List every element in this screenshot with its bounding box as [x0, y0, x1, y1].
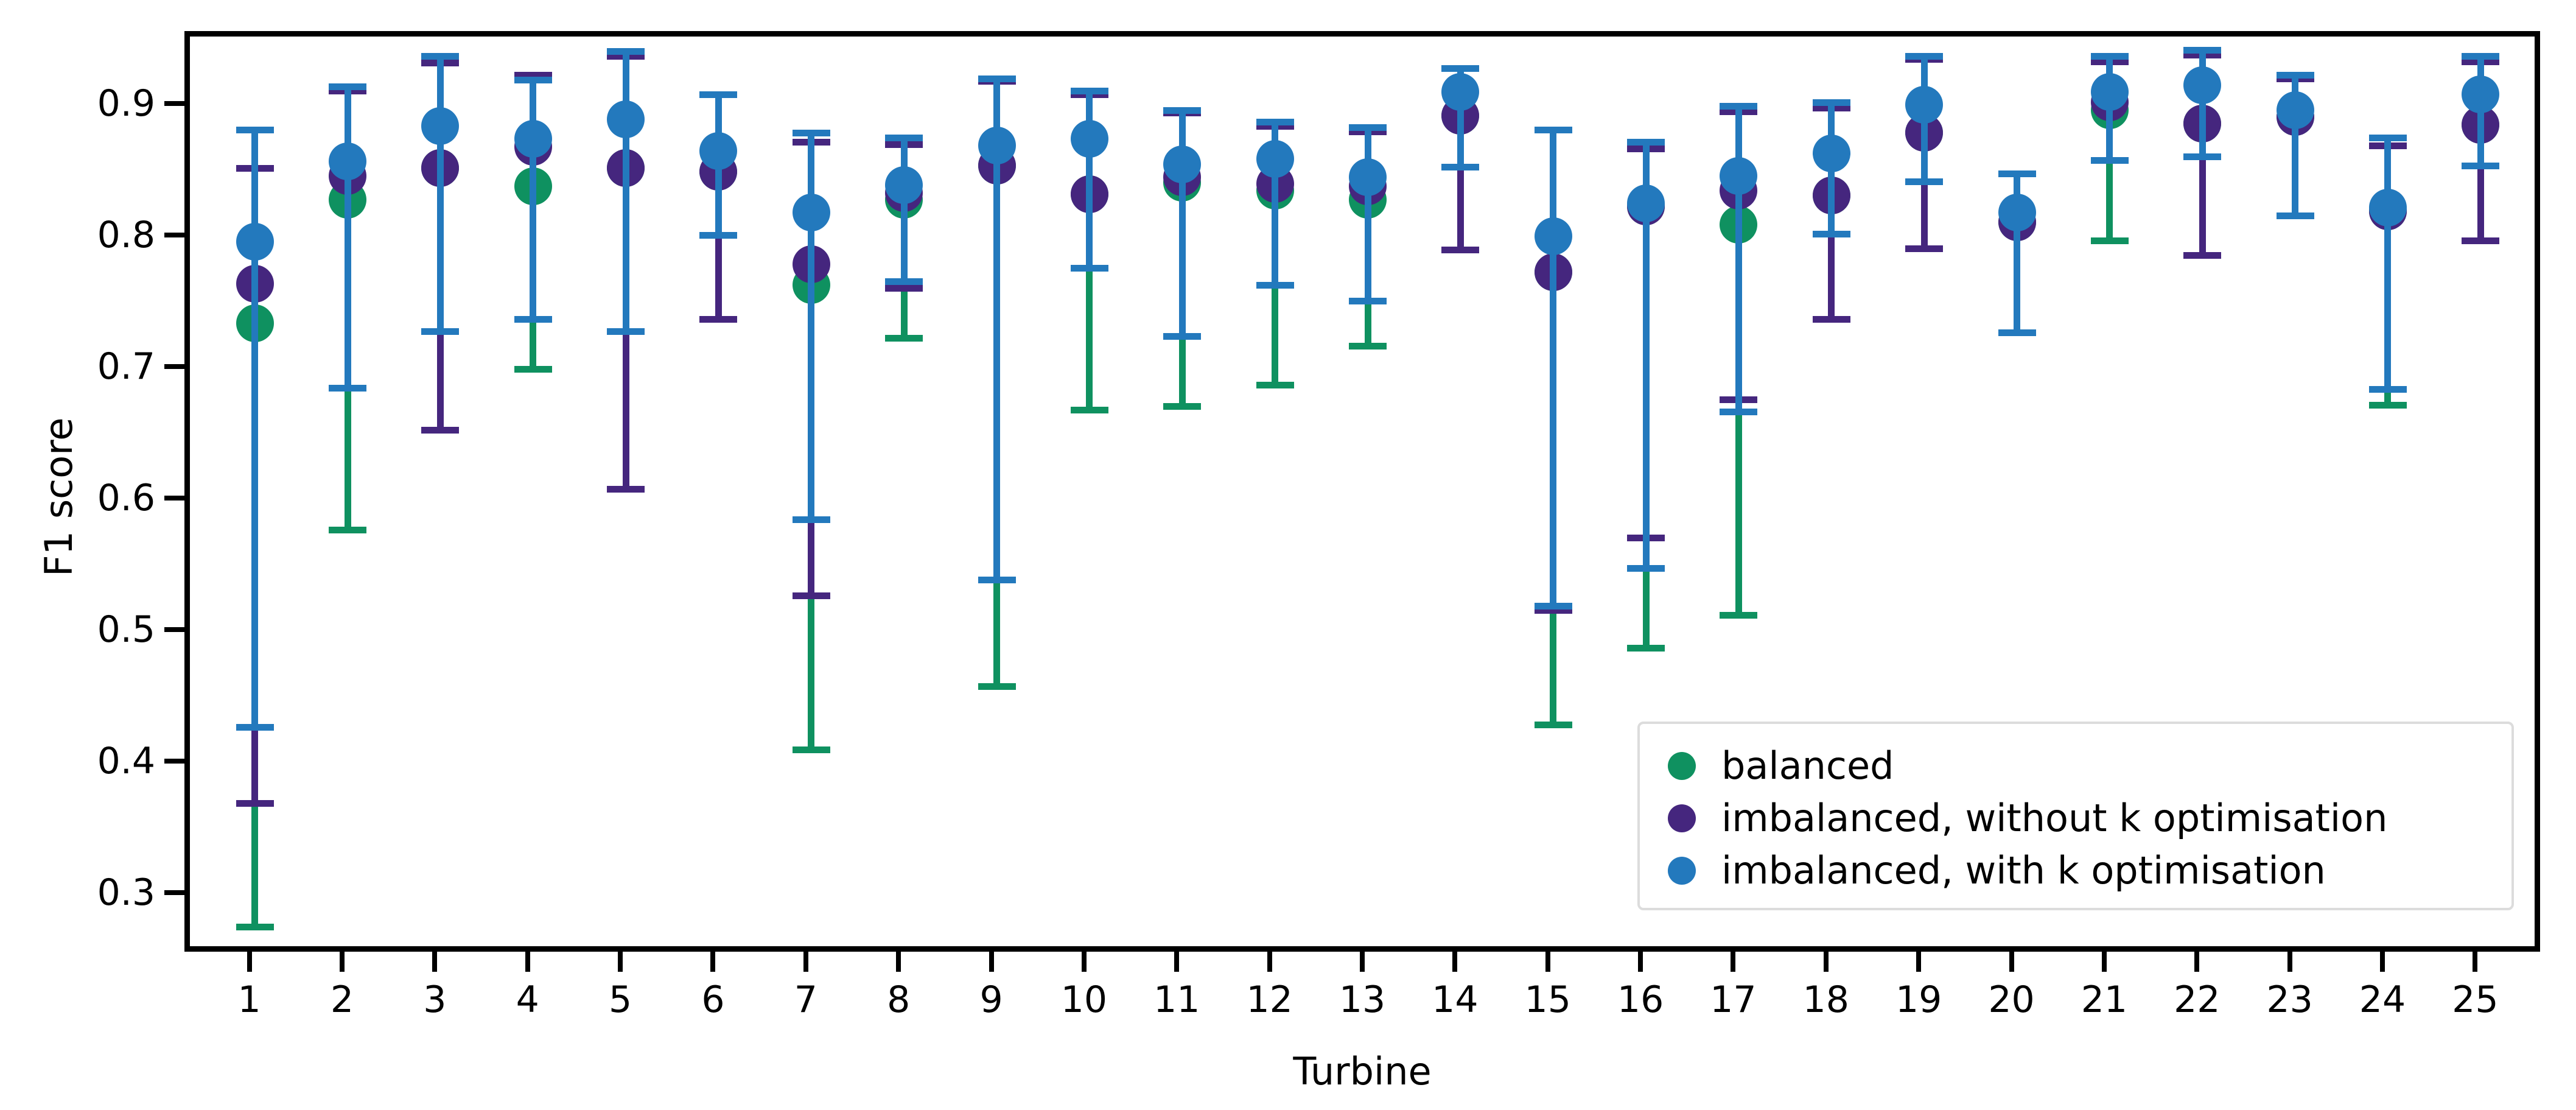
data-point-marker: [1720, 157, 1757, 195]
error-bar-cap: [2369, 386, 2407, 393]
error-bar-cap: [1349, 343, 1387, 350]
data-point-marker: [978, 127, 1016, 164]
x-tick-mark: [340, 952, 345, 972]
error-bar-cap: [2183, 47, 2221, 54]
data-point-marker: [1535, 217, 1572, 255]
legend-item[interactable]: imbalanced, without k optimisation: [1640, 792, 2511, 845]
data-point-marker: [1163, 146, 1201, 183]
y-axis-label: F1 score: [37, 418, 81, 577]
x-tick-mark: [2473, 952, 2477, 972]
data-point-marker: [2183, 66, 2221, 104]
x-tick-label: 14: [1432, 978, 1478, 1021]
data-point-marker: [514, 120, 552, 158]
x-tick-label: 20: [1988, 978, 2034, 1021]
error-bar-cap: [1071, 407, 1108, 413]
error-bar-cap: [1441, 164, 1479, 170]
error-bar-cap: [421, 53, 459, 60]
x-tick-mark: [2287, 952, 2292, 972]
x-tick-mark: [803, 952, 808, 972]
legend-item[interactable]: imbalanced, with k optimisation: [1640, 845, 2511, 897]
x-tick-mark: [618, 952, 623, 972]
error-bar-cap: [1535, 603, 1572, 609]
x-tick-label: 24: [2359, 978, 2406, 1021]
error-bar-cap: [329, 83, 366, 90]
error-bar-cap: [699, 316, 737, 323]
error-bar-cap: [1535, 127, 1572, 133]
error-bar-cap: [236, 724, 274, 731]
x-tick-label: 1: [238, 978, 261, 1021]
error-bar-cap: [607, 486, 645, 493]
y-tick-label: 0.8: [97, 217, 155, 253]
error-bar-cap: [2277, 72, 2314, 79]
error-bar-cap: [421, 427, 459, 434]
error-bar-cap: [1720, 103, 1757, 110]
x-tick-mark: [1267, 952, 1272, 972]
error-bar-cap: [1349, 124, 1387, 131]
x-tick-mark: [1731, 952, 1735, 972]
x-tick-label: 3: [423, 978, 446, 1021]
legend-marker-icon: [1668, 857, 1696, 885]
y-tick-label: 0.6: [97, 480, 155, 516]
error-bar-cap: [1256, 382, 1294, 388]
error-bar-cap: [1627, 565, 1665, 572]
error-bar-cap: [2091, 237, 2129, 244]
y-tick-mark: [164, 233, 184, 237]
x-tick-label: 21: [2081, 978, 2127, 1021]
x-tick-label: 8: [887, 978, 910, 1021]
error-bar-cap: [793, 592, 830, 599]
data-point-marker: [1998, 194, 2036, 231]
legend-label: balanced: [1721, 747, 1894, 785]
data-point-marker: [793, 194, 830, 231]
data-point-marker: [2277, 91, 2314, 129]
error-bar-cap: [1905, 53, 1943, 60]
x-tick-label: 22: [2174, 978, 2220, 1021]
x-tick-mark: [2102, 952, 2107, 972]
x-tick-label: 13: [1339, 978, 1385, 1021]
error-bar-cap: [236, 800, 274, 807]
data-point-marker: [1441, 73, 1479, 111]
error-bar-cap: [1998, 329, 2036, 336]
x-tick-mark: [1174, 952, 1179, 972]
x-tick-label: 2: [331, 978, 354, 1021]
error-bar-cap: [1071, 88, 1108, 94]
x-tick-label: 5: [609, 978, 632, 1021]
y-tick-label: 0.3: [97, 874, 155, 911]
x-tick-mark: [1452, 952, 1457, 972]
error-bar-cap: [514, 77, 552, 83]
x-tick-mark: [1082, 952, 1087, 972]
error-bar-cap: [793, 746, 830, 753]
y-tick-mark: [164, 101, 184, 106]
y-tick-mark: [164, 759, 184, 764]
error-bar-cap: [1441, 247, 1479, 253]
error-bar-cap: [2091, 157, 2129, 164]
x-tick-label: 17: [1710, 978, 1756, 1021]
error-bar-cap: [1163, 403, 1201, 410]
error-bar-cap: [236, 127, 274, 133]
x-tick-label: 7: [794, 978, 817, 1021]
x-tick-mark: [710, 952, 715, 972]
figure: F1 score Turbine 0.30.40.50.60.70.80.9 1…: [0, 0, 2576, 1110]
error-bar-cap: [2462, 237, 2499, 244]
y-tick-mark: [164, 890, 184, 895]
data-point-marker: [1256, 140, 1294, 178]
x-tick-mark: [432, 952, 437, 972]
x-tick-mark: [2380, 952, 2385, 972]
data-point-marker: [1627, 184, 1665, 222]
data-point-marker: [2462, 76, 2499, 113]
error-bar-cap: [1813, 99, 1850, 106]
x-tick-mark: [1545, 952, 1550, 972]
data-point-marker: [2369, 189, 2407, 227]
error-bar-cap: [2091, 53, 2129, 60]
x-tick-mark: [1916, 952, 1921, 972]
error-bar-cap: [1813, 231, 1850, 237]
x-tick-label: 15: [1525, 978, 1571, 1021]
x-tick-label: 23: [2266, 978, 2312, 1021]
error-bar-line: [808, 133, 814, 519]
error-bar-line: [1179, 110, 1186, 337]
y-tick-mark: [164, 627, 184, 632]
error-bar-line: [1735, 106, 1742, 411]
error-bar-cap: [1627, 139, 1665, 146]
data-point-marker: [607, 100, 645, 138]
error-bar-cap: [1441, 65, 1479, 72]
x-tick-label: 25: [2452, 978, 2498, 1021]
error-bar-cap: [2183, 153, 2221, 160]
error-bar-cap: [1163, 333, 1201, 340]
error-bar-cap: [1998, 170, 2036, 177]
error-bar-line: [2384, 138, 2391, 389]
error-bar-cap: [885, 278, 923, 285]
error-bar-cap: [421, 328, 459, 335]
data-point-marker: [699, 132, 737, 170]
error-bar-line: [1550, 130, 1556, 606]
x-axis-label: Turbine: [1293, 1049, 1431, 1094]
error-bar-cap: [1163, 107, 1201, 114]
error-bar-cap: [793, 516, 830, 523]
error-bar-cap: [2277, 213, 2314, 219]
y-tick-label: 0.4: [97, 743, 155, 779]
y-tick-label: 0.9: [97, 85, 155, 122]
error-bar-line: [530, 80, 536, 319]
error-bar-line: [251, 130, 258, 727]
x-tick-mark: [1824, 952, 1829, 972]
error-bar-cap: [329, 385, 366, 392]
error-bar-cap: [885, 285, 923, 292]
y-tick-label: 0.5: [97, 611, 155, 648]
data-point-marker: [329, 142, 366, 180]
x-tick-mark: [247, 952, 252, 972]
error-bar-line: [901, 138, 908, 281]
x-tick-label: 19: [1895, 978, 1942, 1021]
error-bar-cap: [1720, 612, 1757, 619]
x-tick-label: 16: [1617, 978, 1664, 1021]
y-tick-mark: [164, 364, 184, 369]
x-tick-mark: [2194, 952, 2199, 972]
data-point-marker: [1813, 135, 1850, 172]
x-tick-label: 6: [701, 978, 724, 1021]
error-bar-cap: [514, 366, 552, 373]
error-bar-cap: [1627, 645, 1665, 652]
error-bar-cap: [2462, 53, 2499, 60]
error-bar-cap: [1905, 245, 1943, 252]
y-tick-mark: [164, 496, 184, 501]
y-tick-label: 0.7: [97, 348, 155, 385]
data-point-marker: [2091, 73, 2129, 111]
legend-marker-icon: [1668, 804, 1696, 832]
x-tick-label: 11: [1153, 978, 1200, 1021]
error-bar-cap: [978, 76, 1016, 82]
error-bar-cap: [978, 683, 1016, 690]
x-tick-label: 9: [979, 978, 1003, 1021]
x-tick-mark: [525, 952, 530, 972]
error-bar-cap: [885, 135, 923, 141]
error-bar-line: [437, 56, 444, 331]
error-bar-line: [1086, 91, 1093, 269]
error-bar-cap: [1535, 722, 1572, 728]
legend-item[interactable]: balanced: [1640, 740, 2511, 792]
error-bar-cap: [2462, 163, 2499, 169]
error-bar-cap: [885, 335, 923, 342]
error-bar-cap: [1813, 316, 1850, 323]
error-bar-cap: [607, 328, 645, 335]
error-bar-cap: [1256, 119, 1294, 125]
error-bar-cap: [607, 48, 645, 55]
error-bar-cap: [1905, 178, 1943, 185]
x-tick-label: 12: [1246, 978, 1292, 1021]
x-tick-mark: [896, 952, 901, 972]
error-bar-cap: [236, 924, 274, 930]
x-tick-label: 10: [1061, 978, 1107, 1021]
data-point-marker: [236, 223, 274, 261]
error-bar-cap: [793, 130, 830, 136]
error-bar-cap: [2369, 135, 2407, 141]
x-tick-mark: [2009, 952, 2014, 972]
data-point-marker: [1905, 86, 1943, 124]
legend-marker-icon: [1668, 752, 1696, 780]
error-bar-cap: [2369, 402, 2407, 409]
data-point-marker: [1071, 120, 1108, 158]
x-tick-mark: [989, 952, 994, 972]
error-bar-cap: [1720, 409, 1757, 415]
legend-label: imbalanced, without k optimisation: [1721, 799, 2387, 837]
error-bar-cap: [699, 91, 737, 98]
error-bar-line: [345, 86, 351, 388]
error-bar-cap: [514, 316, 552, 323]
error-bar-line: [1365, 127, 1371, 301]
legend-label: imbalanced, with k optimisation: [1721, 852, 2326, 890]
data-point-marker: [421, 107, 459, 145]
error-bar-cap: [329, 527, 366, 533]
data-point-marker: [885, 166, 923, 204]
error-bar-cap: [978, 577, 1016, 583]
error-bar-cap: [2183, 252, 2221, 259]
x-tick-label: 18: [1803, 978, 1849, 1021]
error-bar-cap: [1071, 265, 1108, 272]
data-point-marker: [1349, 158, 1387, 196]
error-bar-line: [623, 51, 629, 331]
x-tick-label: 4: [516, 978, 539, 1021]
x-tick-mark: [1638, 952, 1643, 972]
legend: balancedimbalanced, without k optimisati…: [1637, 722, 2514, 910]
error-bar-cap: [699, 232, 737, 239]
error-bar-cap: [1349, 298, 1387, 304]
x-tick-mark: [1360, 952, 1365, 972]
error-bar-cap: [1256, 282, 1294, 289]
